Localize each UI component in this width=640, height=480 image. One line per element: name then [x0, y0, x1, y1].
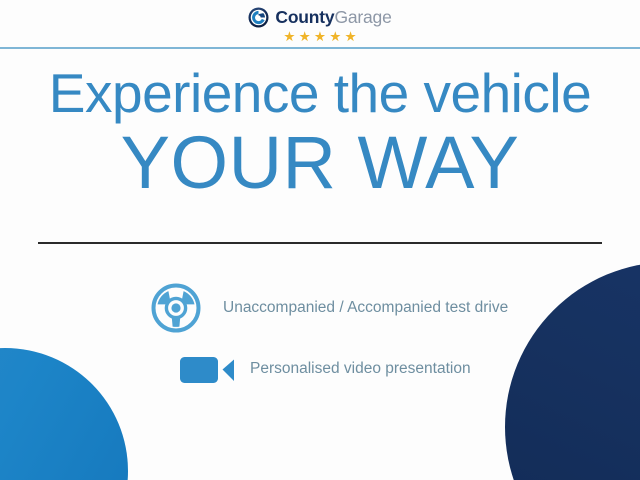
headline-block: Experience the vehicle YOUR WAY [0, 62, 640, 202]
section-divider [38, 242, 602, 244]
county-garage-circle-logo-icon [248, 7, 269, 28]
feature-item-test-drive: Unaccompanied / Accompanied test drive [0, 276, 640, 340]
headline-line-1: Experience the vehicle [0, 62, 640, 124]
brand-name-secondary: Garage [334, 7, 391, 27]
brand-wordmark: CountyGarage [275, 7, 391, 28]
headline-line-2: YOUR WAY [0, 124, 640, 202]
rating-stars: ★★★★★ [280, 29, 360, 44]
promo-banner: CountyGarage ★★★★★ Experience the vehicl… [0, 0, 640, 480]
feature-item-video: Personalised video presentation [0, 340, 640, 398]
feature-label-test-drive: Unaccompanied / Accompanied test drive [223, 298, 508, 318]
feature-label-video: Personalised video presentation [250, 359, 471, 379]
brand-name-primary: County [275, 7, 334, 27]
header-divider [0, 47, 640, 49]
video-camera-icon [178, 352, 236, 386]
banner-header: CountyGarage ★★★★★ [0, 0, 640, 48]
steering-wheel-icon [145, 283, 207, 333]
brand-lockup: CountyGarage [248, 6, 391, 28]
feature-list: Unaccompanied / Accompanied test drive P… [0, 276, 640, 398]
